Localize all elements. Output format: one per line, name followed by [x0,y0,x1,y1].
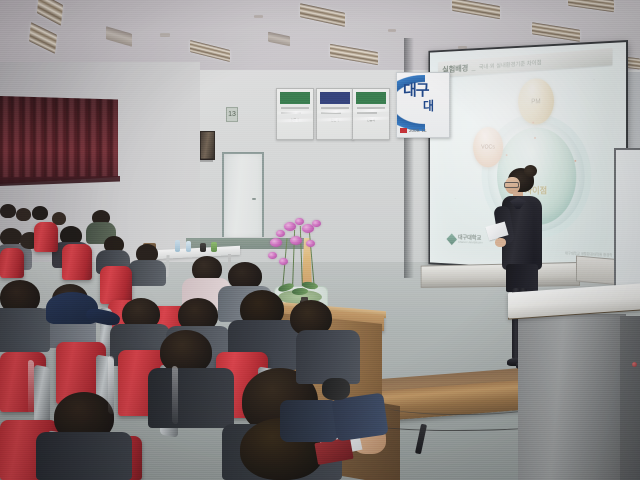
auditorium-chair[interactable] [0,248,24,278]
chair-highlight [108,356,114,415]
wall-poster: 인증서 [316,88,354,140]
door-handle[interactable] [252,198,256,200]
bottle-dark [200,243,206,252]
auditorium-chair[interactable] [100,266,132,304]
orchid-bloom [270,238,282,247]
slide-university-logo: 대구대학교 DAEGU UNIVERSITY [448,235,483,245]
orchid-bloom [306,240,315,247]
banner-date: 2009. 11. [400,128,427,133]
water-bottle [175,240,180,252]
presenter-hand [495,238,506,247]
chair-highlight [28,360,34,415]
slide-title-sub: 국내·외 실내환경기준 차이점 [479,58,542,71]
poster-line [281,107,309,109]
audience-body [36,432,132,480]
auditorium-chair[interactable] [34,222,58,252]
poster-glare [316,109,354,113]
poster-header [356,92,386,104]
orchid-stem [300,226,304,290]
ceiling-sprinkler [254,15,263,18]
wall-poster: 인증서 [352,88,390,140]
audience-head [0,204,16,218]
slide-microtext: ~ [584,62,586,66]
stage-curtain [0,96,118,184]
lectern [516,288,638,480]
presenter-hair-bun [524,165,537,177]
audience-body [128,260,166,286]
wall-poster: 인증서 [276,88,314,140]
wall-speaker-shadow [200,158,213,162]
slide-dot [532,122,534,124]
chair-highlight [172,366,178,425]
audience-body [280,400,338,442]
glasses-icon [504,182,519,188]
wall-speaker [200,131,215,160]
audience-body [0,308,50,352]
orchid-bloom [312,220,321,227]
audience-shoe [322,378,350,400]
poster-header [280,92,310,104]
orchid-bloom [276,230,285,237]
orchid-bloom [284,222,296,231]
room-number-plate: 13 [226,107,238,122]
poster-glare [276,110,314,114]
slide-title-separator: _ [472,63,476,72]
slide-bubble-vocs-label: VOCs [481,144,495,150]
orchid-bloom [290,236,302,245]
lectern-power-indicator[interactable] [632,362,637,367]
poster-glare [352,108,390,112]
floor-cable [386,398,536,415]
slide-dot [534,137,536,139]
slide-logo-subtext: DAEGU UNIVERSITY [458,241,483,245]
lecture-hall-photo: 13 인증서 인증서 인증서 실험배경 [0,0,640,480]
ceiling-sprinkler [388,29,396,32]
audience-body [148,368,234,428]
lectern-body [518,314,626,480]
exit-door[interactable] [222,152,264,237]
audience-head [32,206,48,220]
slide-dot [574,160,576,162]
green-bottle [211,242,217,252]
lectern-side-panel [620,316,640,480]
orchid-bloom [279,258,288,265]
slide-microtext: ~ [593,77,595,81]
slide-dot [506,154,508,156]
water-bottle [186,241,191,252]
whiteboard [614,148,640,292]
audience-head [16,208,31,221]
auditorium-chair[interactable] [62,244,92,280]
slide-bubble-vocs: VOCs [473,127,503,168]
ceiling-sprinkler [160,33,170,37]
audience-body [296,330,360,384]
slide-title-bar: 실험배경 _ 국내·외 실내환경기준 차이점 [438,48,612,77]
poster-header [320,92,350,104]
slide-microtext: ~ [455,197,456,201]
poster-line [321,107,349,109]
orchid-bloom [268,252,277,259]
banner-title-line2: 대 [423,97,434,114]
event-banner: 대구 대 2009. 11. [396,72,450,138]
slide-logo-diamond-icon [446,233,457,245]
orchid-bloom [295,218,304,225]
slide-bubble-pm-label: PM [531,98,540,105]
